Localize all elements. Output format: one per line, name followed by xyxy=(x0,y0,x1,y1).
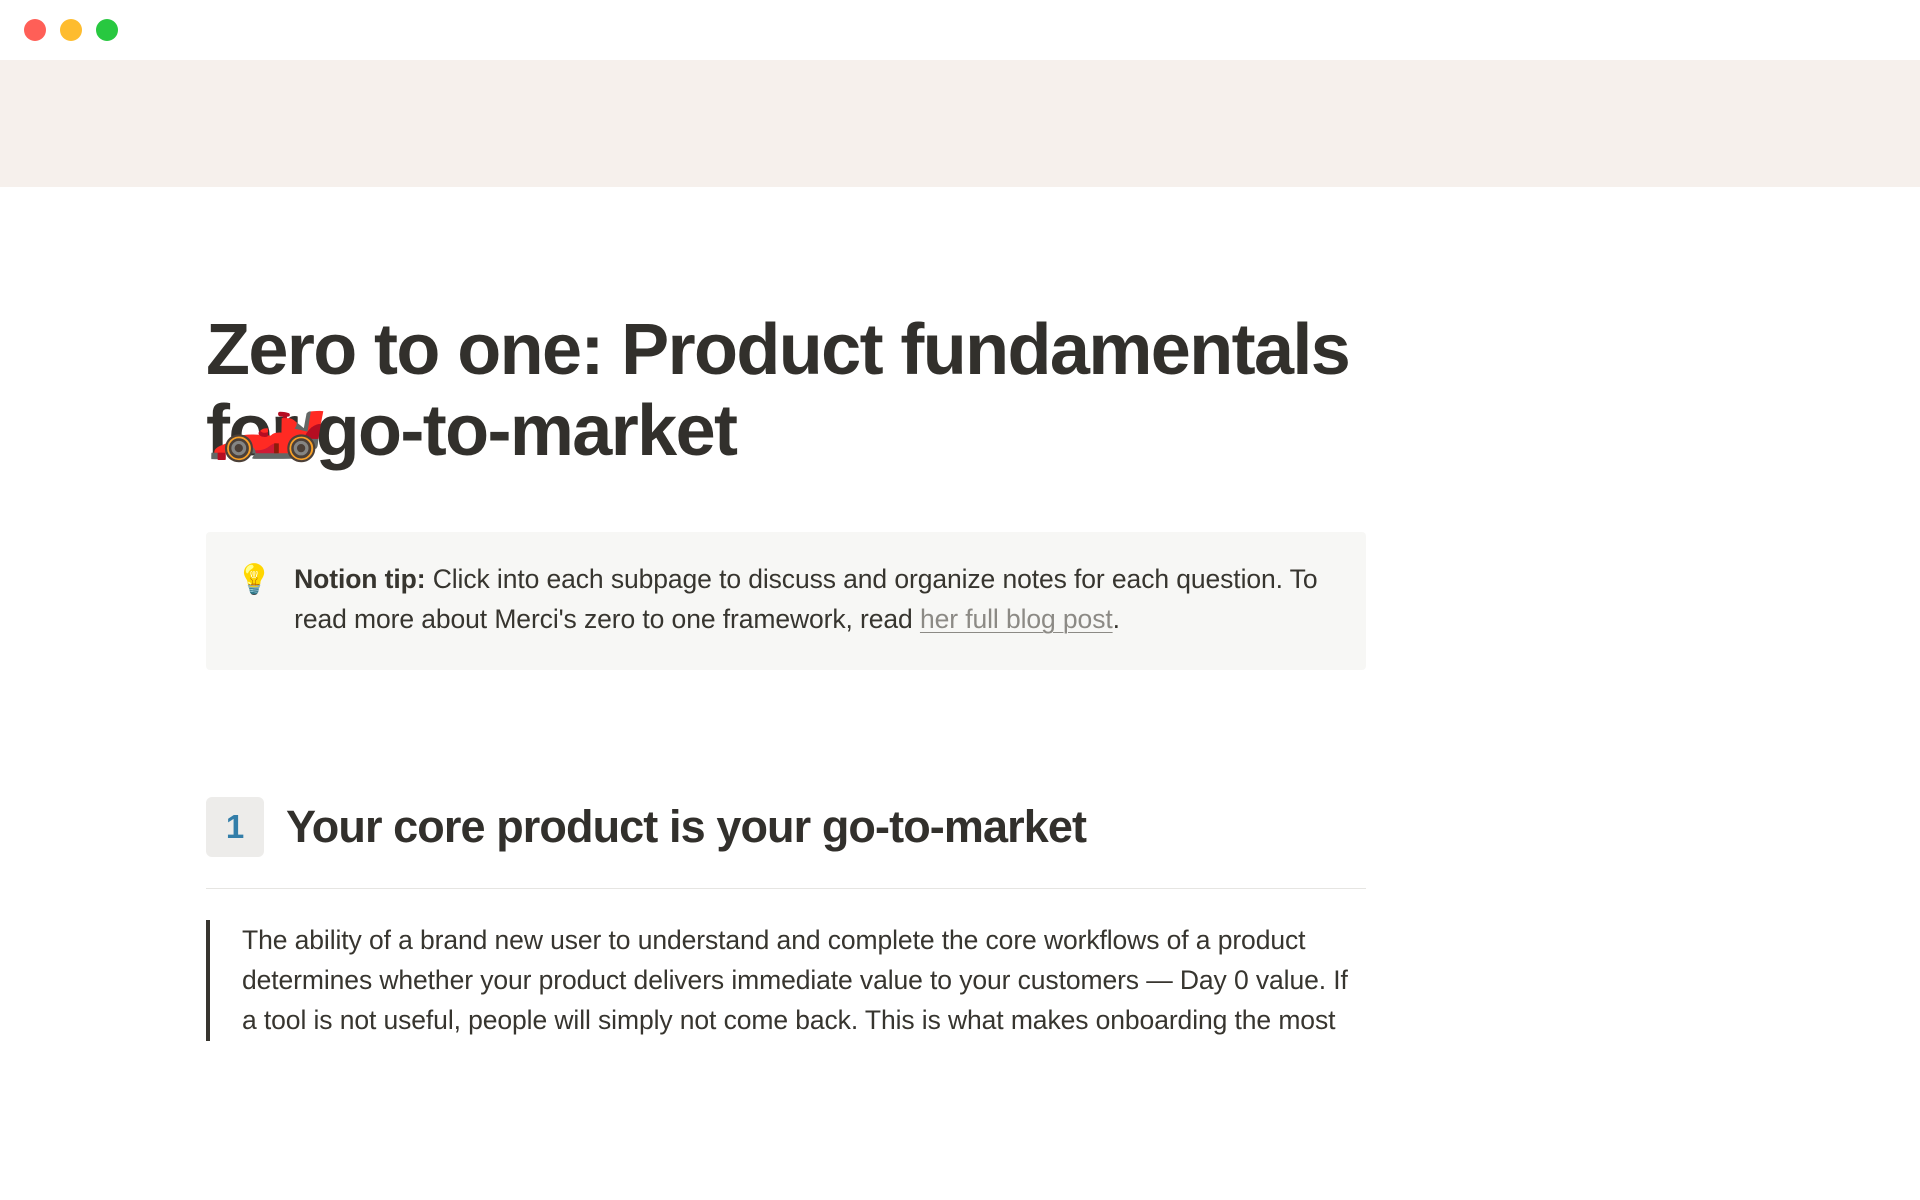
page-cover-banner[interactable] xyxy=(0,60,1920,187)
maximize-window-button[interactable] xyxy=(96,19,118,41)
callout-label: Notion tip: xyxy=(294,564,425,594)
minimize-window-button[interactable] xyxy=(60,19,82,41)
section-heading[interactable]: 1 Your core product is your go-to-market xyxy=(206,797,1366,857)
blog-post-link[interactable]: her full blog post xyxy=(920,604,1113,634)
page-title[interactable]: Zero to one: Product fundamentals for go… xyxy=(206,187,1366,471)
close-window-button[interactable] xyxy=(24,19,46,41)
window-traffic-lights xyxy=(24,19,118,41)
quote-block[interactable]: The ability of a brand new user to under… xyxy=(206,920,1366,1041)
callout-text: Notion tip: Click into each subpage to d… xyxy=(294,560,1334,640)
light-bulb-icon: 💡 xyxy=(236,560,272,600)
callout-body-after-link: . xyxy=(1113,604,1120,634)
callout-body-before-link: Click into each subpage to discuss and o… xyxy=(294,564,1317,634)
window-titlebar xyxy=(0,0,1920,60)
quote-text: The ability of a brand new user to under… xyxy=(242,920,1366,1041)
section-number-badge: 1 xyxy=(206,797,264,857)
page-content-column: Zero to one: Product fundamentals for go… xyxy=(206,187,1366,1041)
page-body: 🏎️ Zero to one: Product fundamentals for… xyxy=(0,187,1920,1041)
section-divider xyxy=(206,888,1366,889)
section-title[interactable]: Your core product is your go-to-market xyxy=(286,801,1086,853)
racing-car-emoji[interactable]: 🏎️ xyxy=(206,359,328,457)
notion-tip-callout[interactable]: 💡 Notion tip: Click into each subpage to… xyxy=(206,532,1366,670)
